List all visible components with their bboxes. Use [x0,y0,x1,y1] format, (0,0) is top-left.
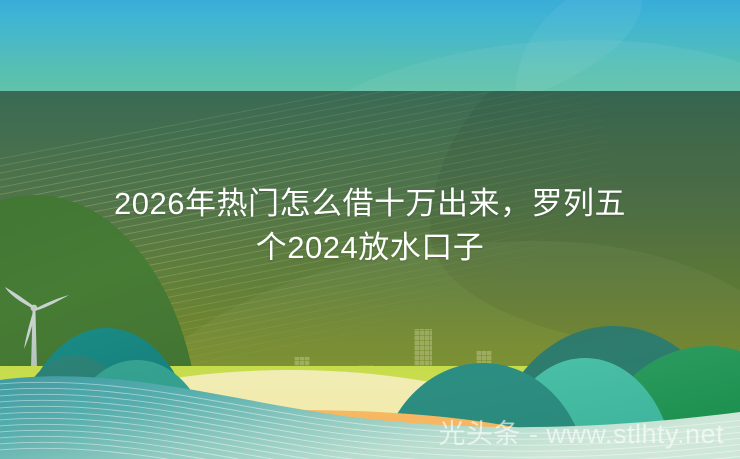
skyline-building [332,417,341,459]
skyline-building [414,329,432,459]
skyline-building [358,365,373,459]
skyline-building [280,405,290,459]
sky-curve-band-3 [515,0,740,91]
skyline-building [262,377,276,459]
skyline-building [294,357,310,459]
page-title: 2026年热门怎么借十万出来，罗列五 个2024放水口子 [0,182,740,270]
skyline-building [378,391,390,459]
skyline-building [396,411,406,459]
banner-image: 2026年热门怎么借十万出来，罗列五 个2024放水口子 光头条 - www.s… [0,0,740,459]
wind-turbine-icon [2,281,72,416]
sky-background [0,0,740,91]
site-watermark: 光头条 - www.stlhty.net [438,417,724,451]
land-background [0,91,740,459]
skyline-building [314,397,325,459]
